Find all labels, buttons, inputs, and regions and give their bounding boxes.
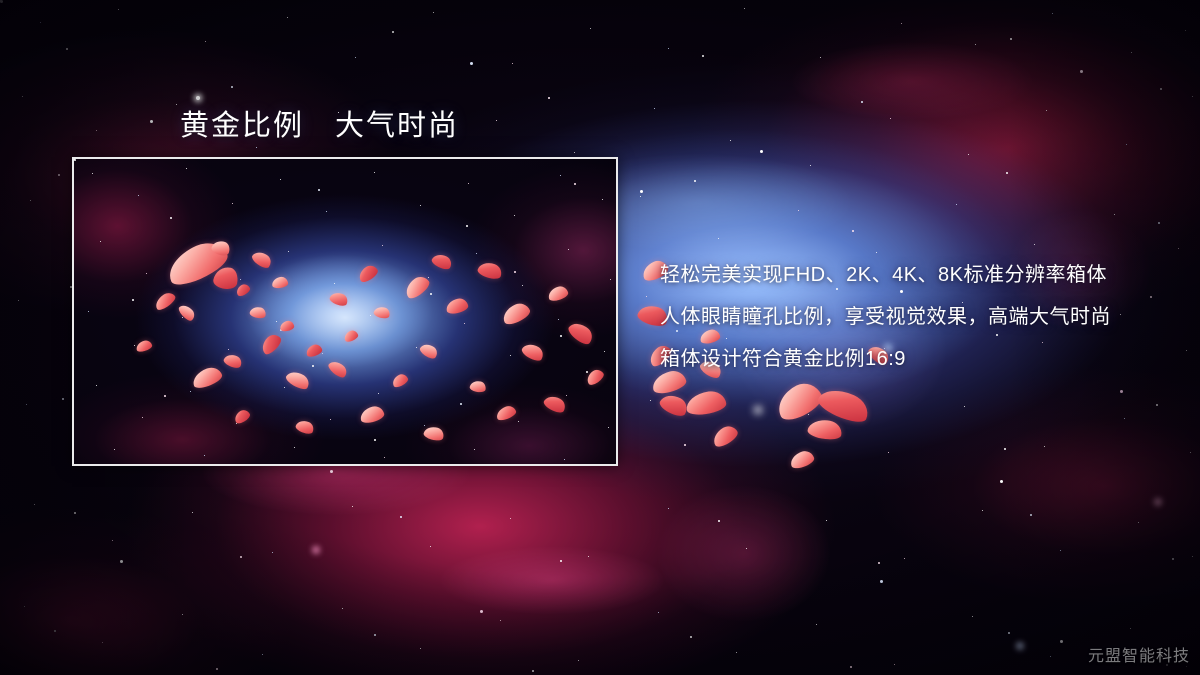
photo-frame[interactable] — [72, 157, 618, 466]
body-line-3: 箱体设计符合黄金比例16:9 — [660, 338, 1170, 380]
body-line-2: 人体眼睛瞳孔比例，享受视觉效果，高端大气时尚 — [660, 296, 1170, 338]
photo-nebula — [74, 159, 616, 464]
photo-inner — [74, 159, 616, 464]
body-text-block: 轻松完美实现FHD、2K、4K、8K标准分辨率箱体 人体眼睛瞳孔比例，享受视觉效… — [660, 254, 1170, 380]
slide-root: 黄金比例 大气时尚 轻松完美实现FHD、2K、4K、8K标准分辨率箱体 人体眼睛… — [0, 0, 1200, 675]
watermark: 元盟智能科技 — [1088, 642, 1190, 666]
body-line-1: 轻松完美实现FHD、2K、4K、8K标准分辨率箱体 — [660, 254, 1170, 296]
page-title: 黄金比例 大气时尚 — [180, 102, 459, 144]
